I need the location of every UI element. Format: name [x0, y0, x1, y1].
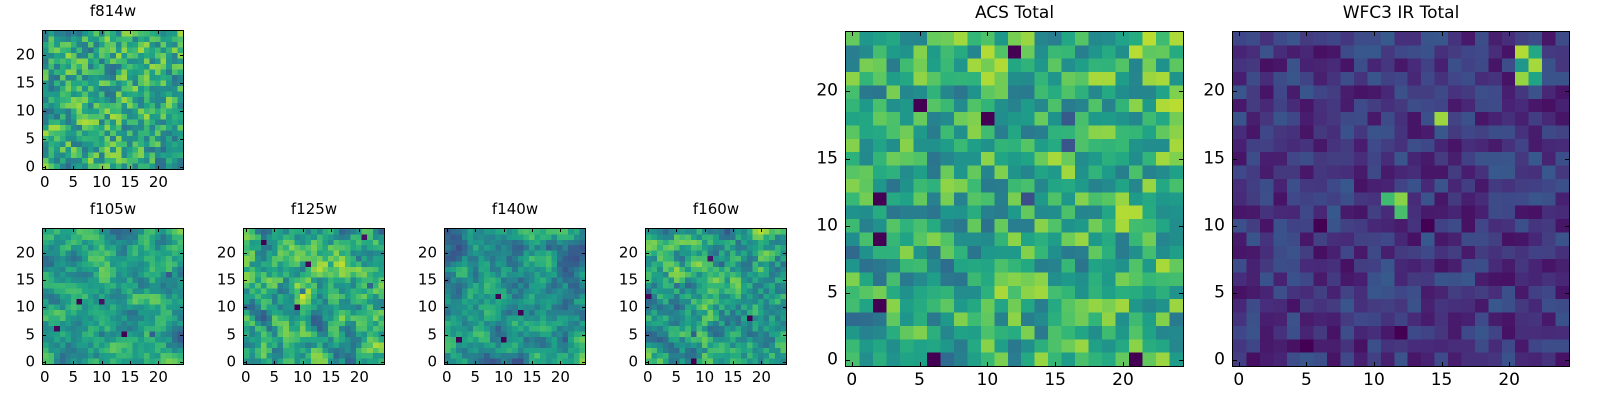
yticklabel-f814w-3: 15 — [0, 76, 35, 91]
yticklabel-acs-total-2: 10 — [785, 217, 838, 234]
xtick-top-f105w-0 — [45, 228, 46, 232]
xticklabel-acs-total-4: 20 — [1112, 372, 1134, 389]
ytick-f125w-4 — [243, 253, 247, 254]
yticklabel-f105w-0: 0 — [0, 355, 35, 370]
xtick-wfc3-ir-total-0 — [1239, 362, 1240, 367]
ytick-f814w-4 — [42, 55, 46, 56]
ytick-f814w-3 — [42, 83, 46, 84]
yticklabel-acs-total-3: 15 — [785, 150, 838, 167]
xtick-top-acs-total-0 — [852, 31, 853, 36]
xtick-f160w-1 — [676, 361, 677, 365]
ytick-f105w-0 — [42, 362, 46, 363]
yticklabel-wfc3-ir-total-4: 20 — [1172, 83, 1225, 100]
heatmap-image-wfc3-ir-total — [1233, 32, 1569, 366]
xticklabel-f814w-0: 0 — [40, 175, 50, 190]
yticklabel-f140w-3: 15 — [384, 273, 437, 288]
xticklabel-f160w-2: 10 — [695, 370, 714, 385]
ytick-f814w-1 — [42, 139, 46, 140]
yticklabel-acs-total-0: 0 — [785, 352, 838, 369]
xtick-top-wfc3-ir-total-2 — [1374, 31, 1375, 36]
ytick-f105w-1 — [42, 335, 46, 336]
xtick-top-f125w-2 — [303, 228, 304, 232]
xtick-top-wfc3-ir-total-0 — [1239, 31, 1240, 36]
yticklabel-f814w-4: 20 — [0, 48, 35, 63]
heatmap-image-f125w — [244, 229, 384, 364]
xticklabel-f140w-0: 0 — [442, 370, 452, 385]
xtick-wfc3-ir-total-3 — [1442, 362, 1443, 367]
xticklabel-f105w-1: 5 — [68, 370, 78, 385]
xtick-f160w-4 — [761, 361, 762, 365]
yticklabel-wfc3-ir-total-1: 5 — [1172, 285, 1225, 302]
ytick-wfc3-ir-total-3 — [1232, 159, 1237, 160]
ytick-f125w-3 — [243, 280, 247, 281]
xtick-acs-total-2 — [987, 362, 988, 367]
xtick-top-f125w-1 — [274, 228, 275, 232]
xtick-f814w-2 — [102, 166, 103, 170]
yticklabel-f125w-1: 5 — [183, 327, 236, 342]
ytick-f160w-0 — [645, 362, 649, 363]
yticklabel-f140w-4: 20 — [384, 245, 437, 260]
xtick-f125w-2 — [303, 361, 304, 365]
xtick-top-f814w-0 — [45, 30, 46, 34]
yticklabel-f160w-4: 20 — [585, 245, 638, 260]
ytick-f105w-2 — [42, 307, 46, 308]
xtick-f105w-4 — [158, 361, 159, 365]
xtick-f105w-1 — [73, 361, 74, 365]
ytick-f105w-3 — [42, 280, 46, 281]
xtick-top-f125w-3 — [331, 228, 332, 232]
xtick-top-f160w-2 — [705, 228, 706, 232]
ytick-right-wfc3-ir-total-3 — [1565, 159, 1570, 160]
xtick-top-f814w-3 — [130, 30, 131, 34]
yticklabel-acs-total-4: 20 — [785, 83, 838, 100]
ytick-f140w-4 — [444, 253, 448, 254]
heatmap-axes-f125w — [243, 228, 385, 365]
panel-wfc3-ir-total: WFC3 IR Total0510152005101520 — [1172, 5, 1570, 401]
xtick-top-f160w-0 — [648, 228, 649, 232]
ytick-right-wfc3-ir-total-1 — [1565, 293, 1570, 294]
ytick-wfc3-ir-total-0 — [1232, 360, 1237, 361]
xticklabel-f125w-0: 0 — [241, 370, 251, 385]
xticklabel-f125w-1: 5 — [269, 370, 279, 385]
yticklabel-f140w-0: 0 — [384, 355, 437, 370]
xtick-top-acs-total-4 — [1123, 31, 1124, 36]
xticklabel-f160w-4: 20 — [752, 370, 771, 385]
heatmap-axes-f814w — [42, 30, 184, 170]
heatmap-image-f814w — [43, 31, 183, 169]
xticklabel-f160w-3: 15 — [723, 370, 742, 385]
yticklabel-f125w-3: 15 — [183, 273, 236, 288]
xtick-wfc3-ir-total-2 — [1374, 362, 1375, 367]
ytick-wfc3-ir-total-2 — [1232, 226, 1237, 227]
xtick-f125w-3 — [331, 361, 332, 365]
ytick-f140w-2 — [444, 307, 448, 308]
ytick-f105w-4 — [42, 253, 46, 254]
yticklabel-acs-total-1: 5 — [785, 285, 838, 302]
xtick-wfc3-ir-total-4 — [1509, 362, 1510, 367]
panel-acs-total: ACS Total0510152005101520 — [785, 5, 1184, 401]
yticklabel-f814w-2: 10 — [0, 104, 35, 119]
xtick-top-f105w-2 — [102, 228, 103, 232]
xtick-f140w-2 — [504, 361, 505, 365]
xtick-f814w-3 — [130, 166, 131, 170]
ytick-acs-total-3 — [845, 159, 850, 160]
ytick-right-f814w-1 — [180, 139, 184, 140]
xticklabel-f140w-3: 15 — [522, 370, 541, 385]
xticklabel-f105w-0: 0 — [40, 370, 50, 385]
ytick-f160w-1 — [645, 335, 649, 336]
yticklabel-f105w-1: 5 — [0, 327, 35, 342]
ytick-f125w-2 — [243, 307, 247, 308]
panel-f160w: f160w0510152005101520 — [585, 202, 787, 399]
xticklabel-f814w-1: 5 — [68, 175, 78, 190]
ytick-f160w-3 — [645, 280, 649, 281]
xtick-f814w-4 — [158, 166, 159, 170]
xtick-top-f105w-3 — [130, 228, 131, 232]
xticklabel-acs-total-2: 10 — [977, 372, 999, 389]
xtick-top-wfc3-ir-total-1 — [1306, 31, 1307, 36]
ytick-right-wfc3-ir-total-2 — [1565, 226, 1570, 227]
ytick-wfc3-ir-total-4 — [1232, 91, 1237, 92]
yticklabel-f125w-4: 20 — [183, 245, 236, 260]
xtick-top-wfc3-ir-total-3 — [1442, 31, 1443, 36]
ytick-right-f814w-2 — [180, 111, 184, 112]
xtick-acs-total-0 — [852, 362, 853, 367]
xticklabel-wfc3-ir-total-1: 5 — [1301, 372, 1312, 389]
xtick-acs-total-3 — [1055, 362, 1056, 367]
xticklabel-acs-total-1: 5 — [914, 372, 925, 389]
ytick-f814w-0 — [42, 167, 46, 168]
ytick-f125w-0 — [243, 362, 247, 363]
yticklabel-f814w-0: 0 — [0, 160, 35, 175]
heatmap-axes-wfc3-ir-total — [1232, 31, 1570, 367]
xticklabel-wfc3-ir-total-3: 15 — [1431, 372, 1453, 389]
xtick-wfc3-ir-total-1 — [1306, 362, 1307, 367]
xtick-top-f105w-4 — [158, 228, 159, 232]
xticklabel-f125w-3: 15 — [321, 370, 340, 385]
xticklabel-f105w-3: 15 — [120, 370, 139, 385]
xticklabel-f105w-2: 10 — [92, 370, 111, 385]
heatmap-axes-f105w — [42, 228, 184, 365]
xtick-f160w-2 — [705, 361, 706, 365]
ytick-acs-total-2 — [845, 226, 850, 227]
panel-f140w: f140w0510152005101520 — [384, 202, 586, 399]
yticklabel-f105w-2: 10 — [0, 300, 35, 315]
ytick-f140w-1 — [444, 335, 448, 336]
xtick-top-f814w-2 — [102, 30, 103, 34]
panel-title-f160w: f160w — [645, 202, 787, 217]
panel-title-wfc3-ir-total: WFC3 IR Total — [1232, 5, 1570, 22]
yticklabel-f160w-1: 5 — [585, 327, 638, 342]
xticklabel-wfc3-ir-total-0: 0 — [1233, 372, 1244, 389]
xtick-top-f160w-4 — [761, 228, 762, 232]
ytick-acs-total-1 — [845, 293, 850, 294]
xticklabel-f125w-2: 10 — [293, 370, 312, 385]
xtick-f105w-2 — [102, 361, 103, 365]
xtick-top-f140w-2 — [504, 228, 505, 232]
xticklabel-f814w-2: 10 — [92, 175, 111, 190]
ytick-right-wfc3-ir-total-0 — [1565, 360, 1570, 361]
xtick-top-f160w-3 — [733, 228, 734, 232]
heatmap-image-f160w — [646, 229, 786, 364]
xtick-f140w-1 — [475, 361, 476, 365]
heatmap-axes-acs-total — [845, 31, 1184, 367]
xtick-top-wfc3-ir-total-4 — [1509, 31, 1510, 36]
xtick-top-f125w-0 — [246, 228, 247, 232]
yticklabel-f160w-0: 0 — [585, 355, 638, 370]
xticklabel-f105w-4: 20 — [149, 370, 168, 385]
figure-canvas: f814w0510152005101520f105w05101520051015… — [0, 0, 1600, 400]
xtick-f105w-3 — [130, 361, 131, 365]
ytick-f140w-0 — [444, 362, 448, 363]
xtick-f125w-1 — [274, 361, 275, 365]
xtick-top-f140w-0 — [447, 228, 448, 232]
ytick-f160w-4 — [645, 253, 649, 254]
xtick-top-f814w-4 — [158, 30, 159, 34]
yticklabel-f814w-1: 5 — [0, 132, 35, 147]
panel-title-acs-total: ACS Total — [845, 5, 1184, 22]
xtick-top-f125w-4 — [359, 228, 360, 232]
yticklabel-wfc3-ir-total-2: 10 — [1172, 217, 1225, 234]
xticklabel-acs-total-0: 0 — [846, 372, 857, 389]
xticklabel-acs-total-3: 15 — [1044, 372, 1066, 389]
xtick-top-f140w-1 — [475, 228, 476, 232]
heatmap-image-acs-total — [846, 32, 1183, 366]
xticklabel-f140w-4: 20 — [551, 370, 570, 385]
yticklabel-wfc3-ir-total-3: 15 — [1172, 150, 1225, 167]
xtick-top-f140w-4 — [560, 228, 561, 232]
ytick-acs-total-4 — [845, 91, 850, 92]
xticklabel-f814w-3: 15 — [120, 175, 139, 190]
yticklabel-f160w-2: 10 — [585, 300, 638, 315]
ytick-right-f814w-0 — [180, 167, 184, 168]
yticklabel-f140w-2: 10 — [384, 300, 437, 315]
xticklabel-f160w-1: 5 — [671, 370, 681, 385]
xtick-f160w-3 — [733, 361, 734, 365]
yticklabel-wfc3-ir-total-0: 0 — [1172, 352, 1225, 369]
xtick-top-f160w-1 — [676, 228, 677, 232]
xticklabel-wfc3-ir-total-4: 20 — [1498, 372, 1520, 389]
panel-f125w: f125w0510152005101520 — [183, 202, 385, 399]
ytick-f125w-1 — [243, 335, 247, 336]
panel-title-f105w: f105w — [42, 202, 184, 217]
xticklabel-f814w-4: 20 — [149, 175, 168, 190]
ytick-right-f814w-3 — [180, 83, 184, 84]
xtick-f140w-3 — [532, 361, 533, 365]
panel-title-f140w: f140w — [444, 202, 586, 217]
ytick-wfc3-ir-total-1 — [1232, 293, 1237, 294]
xtick-f814w-1 — [73, 166, 74, 170]
yticklabel-f140w-1: 5 — [384, 327, 437, 342]
yticklabel-f105w-3: 15 — [0, 273, 35, 288]
panel-title-f814w: f814w — [42, 4, 184, 19]
xtick-top-f140w-3 — [532, 228, 533, 232]
ytick-f140w-3 — [444, 280, 448, 281]
xtick-f125w-4 — [359, 361, 360, 365]
xtick-top-acs-total-3 — [1055, 31, 1056, 36]
yticklabel-f105w-4: 20 — [0, 245, 35, 260]
xtick-acs-total-1 — [920, 362, 921, 367]
xtick-top-f814w-1 — [73, 30, 74, 34]
ytick-acs-total-0 — [845, 360, 850, 361]
xtick-f140w-4 — [560, 361, 561, 365]
panel-f105w: f105w0510152005101520 — [0, 202, 184, 399]
yticklabel-f160w-3: 15 — [585, 273, 638, 288]
panel-title-f125w: f125w — [243, 202, 385, 217]
ytick-right-f814w-4 — [180, 55, 184, 56]
ytick-right-wfc3-ir-total-4 — [1565, 91, 1570, 92]
xticklabel-f160w-0: 0 — [643, 370, 653, 385]
heatmap-axes-f140w — [444, 228, 586, 365]
xticklabel-wfc3-ir-total-2: 10 — [1363, 372, 1385, 389]
heatmap-axes-f160w — [645, 228, 787, 365]
panel-f814w: f814w0510152005101520 — [0, 4, 184, 204]
xtick-acs-total-4 — [1123, 362, 1124, 367]
xtick-top-acs-total-1 — [920, 31, 921, 36]
xticklabel-f125w-4: 20 — [350, 370, 369, 385]
heatmap-image-f140w — [445, 229, 585, 364]
yticklabel-f125w-0: 0 — [183, 355, 236, 370]
ytick-f814w-2 — [42, 111, 46, 112]
yticklabel-f125w-2: 10 — [183, 300, 236, 315]
ytick-f160w-2 — [645, 307, 649, 308]
xticklabel-f140w-2: 10 — [494, 370, 513, 385]
heatmap-image-f105w — [43, 229, 183, 364]
xtick-top-acs-total-2 — [987, 31, 988, 36]
xticklabel-f140w-1: 5 — [470, 370, 480, 385]
xtick-top-f105w-1 — [73, 228, 74, 232]
